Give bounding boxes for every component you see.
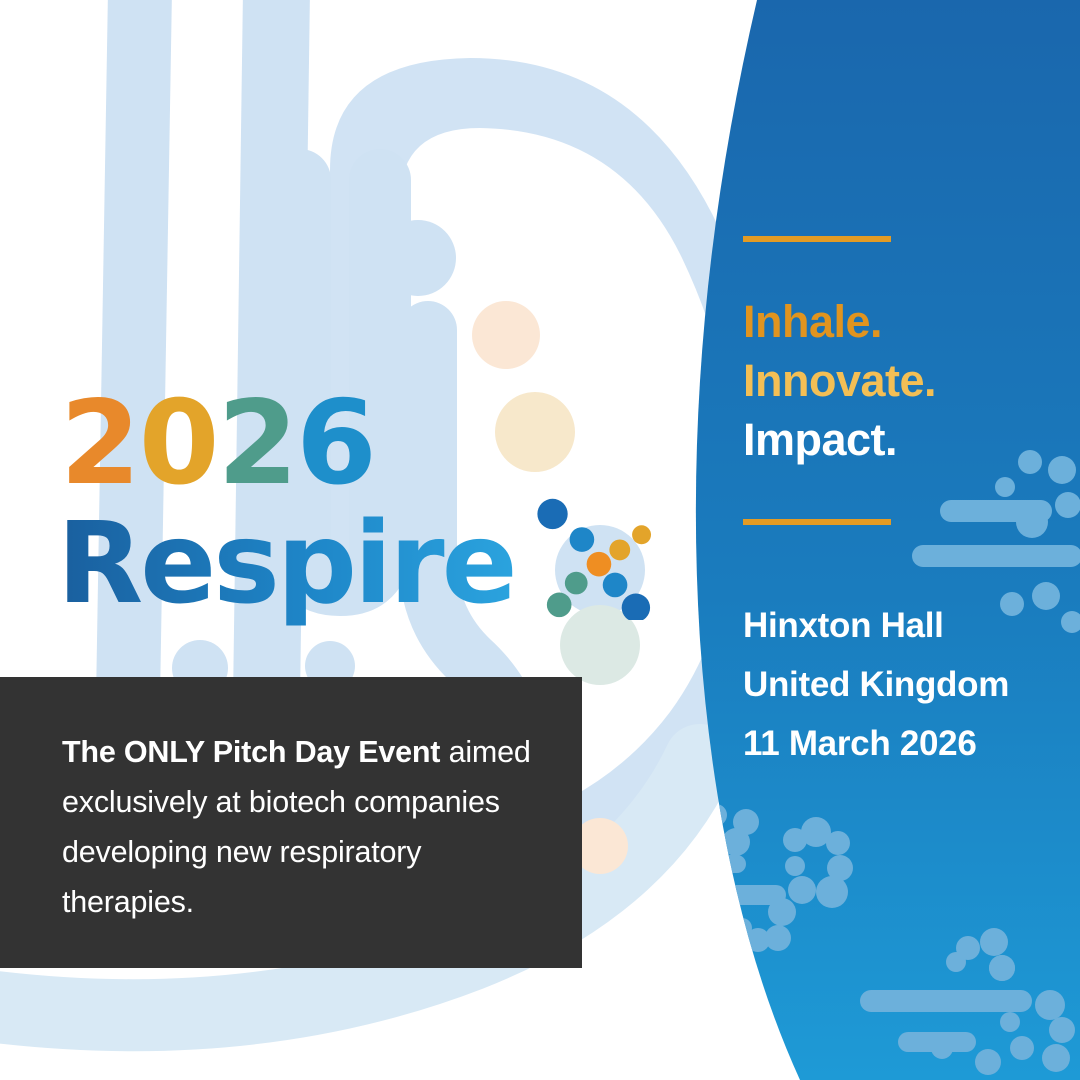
tagline-line-impact: Impact. (743, 410, 1073, 469)
venue-country: United Kingdom (743, 655, 1073, 714)
cluster-dot (603, 573, 628, 598)
gold-rule-top (743, 236, 891, 242)
cluster-dot (547, 593, 572, 618)
tagline-line-innovate: Innovate. (743, 351, 1073, 410)
respire-dot-cluster (528, 495, 668, 620)
year-digit-4: 6 (296, 386, 375, 502)
respire-text: Respire (57, 508, 515, 628)
year-digit-1: 2 (60, 386, 139, 502)
year-digit-2: 0 (139, 386, 218, 502)
cluster-dot (537, 499, 567, 529)
venue-block: Hinxton Hall United Kingdom 11 March 202… (743, 596, 1073, 773)
event-date: 11 March 2026 (743, 714, 1073, 773)
statement-panel: The ONLY Pitch Day Event aimed exclusive… (0, 677, 582, 968)
respire-wordmark: Respire (57, 508, 537, 628)
year-digit-3: 2 (217, 386, 296, 502)
cluster-dot (632, 525, 651, 544)
tagline-block: Inhale. Innovate. Impact. (743, 292, 1073, 469)
cluster-dot (622, 593, 650, 620)
year-2026: 2 0 2 6 (60, 386, 375, 502)
statement-text: The ONLY Pitch Day Event aimed exclusive… (62, 727, 542, 927)
cluster-dot (570, 527, 595, 552)
statement-lead: The ONLY Pitch Day Event (62, 735, 440, 769)
gold-rule-bottom (743, 519, 891, 525)
right-content-column: Inhale. Innovate. Impact. Hinxton Hall U… (743, 0, 1063, 1080)
venue-name: Hinxton Hall (743, 596, 1073, 655)
cluster-dot (609, 540, 630, 561)
cluster-dot (587, 552, 612, 577)
promotional-poster: 2 0 2 6 Respire The ONLY Pitch Day Event… (0, 0, 1080, 1080)
cluster-dot (565, 572, 588, 595)
tagline-line-inhale: Inhale. (743, 292, 1073, 351)
